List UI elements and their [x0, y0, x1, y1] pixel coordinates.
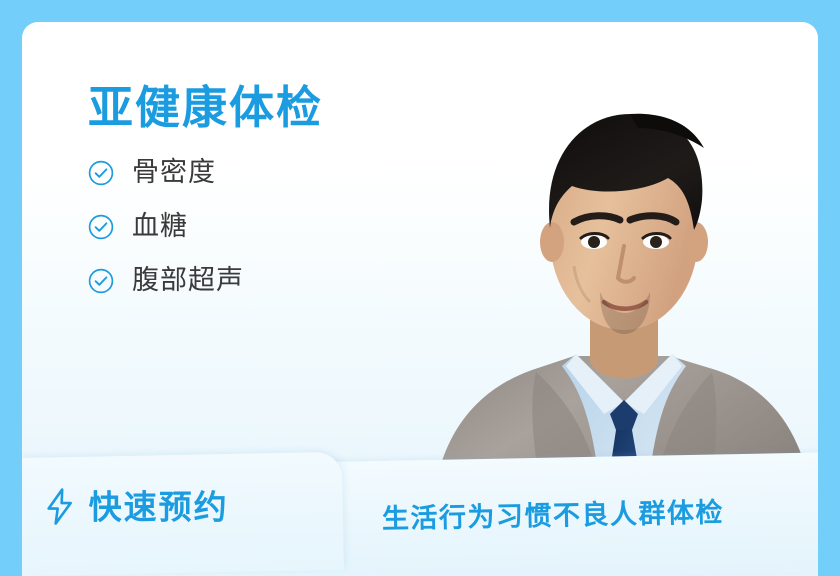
quick-booking-label: 快速预约 — [89, 490, 229, 523]
feature-label: 骨密度 — [132, 159, 216, 186]
portrait-photo — [424, 70, 818, 510]
feature-list: 骨密度 血糖 — [88, 159, 418, 294]
quick-booking-content: 快速预约 — [45, 488, 229, 526]
list-item: 腹部超声 — [88, 267, 418, 294]
banner-subtitle: 生活行为习惯不良人群体检 — [382, 499, 724, 533]
check-circle-icon — [88, 160, 114, 186]
page-title: 亚健康体检 — [88, 84, 418, 131]
list-item: 血糖 — [88, 213, 418, 240]
check-circle-icon — [88, 268, 114, 294]
lightning-bolt-icon — [45, 488, 75, 526]
list-item: 骨密度 — [88, 159, 418, 186]
promo-card: 亚健康体检 骨密度 — [22, 22, 818, 576]
promo-frame: 亚健康体检 骨密度 — [0, 0, 840, 576]
feature-label: 腹部超声 — [132, 267, 244, 294]
check-circle-icon — [88, 214, 114, 240]
quick-booking-button[interactable]: 快速预约 — [22, 452, 344, 576]
feature-label: 血糖 — [132, 213, 188, 240]
portrait-illustration — [424, 70, 818, 510]
info-column: 亚健康体检 骨密度 — [88, 84, 418, 321]
